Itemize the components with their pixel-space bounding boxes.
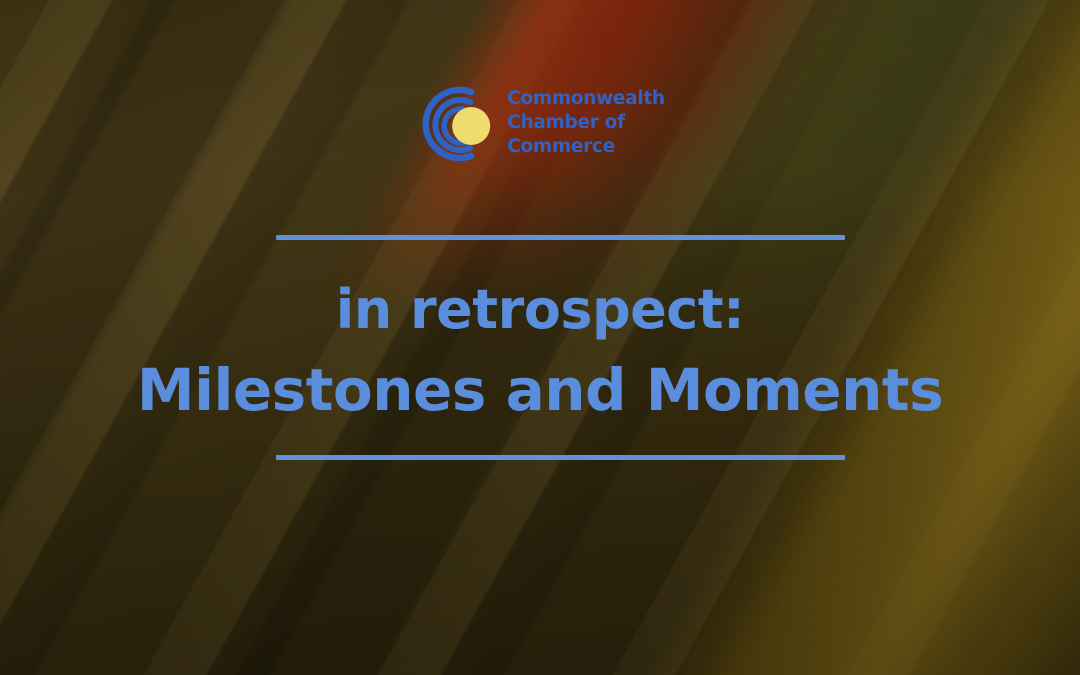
- promo-banner: Commonwealth Chamber of Commerce in retr…: [0, 0, 1080, 675]
- logo-wordmark-line-3: Commerce: [507, 135, 665, 159]
- logo-wordmark-line-2: Chamber of: [507, 111, 665, 135]
- logo-lockup: Commonwealth Chamber of Commerce: [415, 82, 665, 164]
- page-title-line-1: in retrospect:: [0, 272, 1080, 349]
- logo-wordmark: Commonwealth Chamber of Commerce: [507, 87, 665, 159]
- page-title-line-2: Milestones and Moments: [0, 349, 1080, 431]
- banner-content: Commonwealth Chamber of Commerce in retr…: [0, 0, 1080, 675]
- top-divider: [276, 235, 845, 240]
- logo-wordmark-line-1: Commonwealth: [507, 87, 665, 111]
- logo-sun-circle-icon: [452, 107, 490, 145]
- page-title: in retrospect: Milestones and Moments: [0, 272, 1080, 431]
- bottom-divider: [276, 455, 845, 460]
- chamber-logo-mark-icon: [415, 82, 493, 164]
